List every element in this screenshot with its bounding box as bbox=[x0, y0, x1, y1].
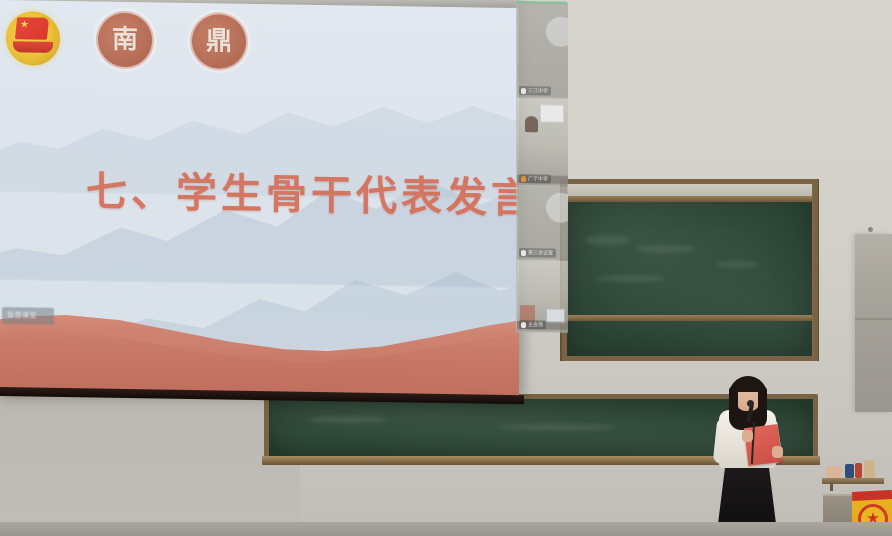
microphone-icon bbox=[521, 322, 526, 328]
chalk-smudge bbox=[716, 261, 760, 268]
participant-name-badge: 第三会议室 bbox=[519, 248, 556, 258]
chalk-smudge bbox=[636, 245, 696, 253]
right-hand bbox=[772, 446, 783, 458]
hair-strand-left bbox=[729, 386, 738, 422]
wall-hook bbox=[868, 227, 873, 232]
chalk-smudge bbox=[308, 416, 388, 423]
star-icon: ★ bbox=[20, 20, 29, 29]
chalkboard-right-post-right bbox=[812, 179, 819, 361]
microphone-icon bbox=[747, 400, 754, 407]
participant-label: 第三会议室 bbox=[528, 249, 553, 256]
slide-logo-row: ★ 南 鼎 bbox=[6, 9, 248, 71]
participant-tile-1[interactable]: 三江中学 bbox=[517, 2, 568, 99]
participant-name-badge: 主会场 bbox=[519, 320, 546, 329]
participant-name-badge: 广宁中学 bbox=[519, 174, 551, 184]
participant-tile-3[interactable]: 第三会议室 bbox=[517, 186, 568, 261]
chalk-smudge bbox=[584, 235, 630, 245]
chalk-smudge bbox=[498, 424, 618, 430]
shelf-object-jar bbox=[864, 460, 875, 478]
person-in-feed bbox=[525, 116, 538, 132]
chalkboard-right-rail-mid bbox=[562, 315, 818, 321]
school-seal-left-icon: 南 bbox=[96, 11, 154, 70]
participant-label: 广宁中学 bbox=[528, 175, 548, 182]
emblem-banner bbox=[13, 41, 53, 53]
student-representative bbox=[700, 374, 796, 536]
participant-label: 主会场 bbox=[528, 321, 543, 328]
seal-glyph: 南 bbox=[112, 27, 138, 53]
shelf-object-box bbox=[845, 464, 854, 478]
chalkboard-glow bbox=[566, 183, 814, 357]
hanging-cloth bbox=[855, 234, 892, 412]
wall-shadow bbox=[0, 380, 300, 536]
hair-strand-right bbox=[758, 386, 767, 418]
microphone-muted-icon bbox=[521, 176, 526, 182]
microphone-icon bbox=[521, 250, 526, 256]
participant-tile-2[interactable]: 广宁中学 bbox=[517, 98, 568, 187]
shelf-object-bottle bbox=[855, 463, 862, 478]
projector-screen: ★ 南 鼎 七、学生骨干代表发言 智慧课堂 bbox=[0, 0, 519, 397]
wall-shelf-bracket bbox=[830, 484, 833, 491]
floor bbox=[0, 522, 892, 536]
participant-tile-4[interactable]: 主会场 bbox=[517, 260, 568, 333]
shelf-object-cloth bbox=[826, 466, 842, 478]
participant-name-badge: 三江中学 bbox=[519, 86, 551, 96]
video-conference-panel[interactable]: 三江中学 广宁中学 第三会议室 bbox=[516, 2, 568, 333]
chalkboard-right-rail-top bbox=[562, 196, 818, 202]
communist-youth-league-emblem-icon: ★ bbox=[6, 11, 60, 66]
slide-title: 七、学生骨干代表发言 bbox=[86, 169, 506, 221]
chalk-smudge bbox=[596, 275, 666, 282]
left-hand bbox=[742, 430, 753, 442]
hanging-cloth-fold bbox=[855, 318, 892, 320]
whiteboard-in-feed bbox=[540, 104, 564, 122]
microphone-icon bbox=[521, 88, 526, 94]
slide-corner-label: 智慧课堂 bbox=[2, 307, 54, 325]
tile-video-feed bbox=[517, 98, 568, 186]
classroom-scene: ★ 南 鼎 七、学生骨干代表发言 智慧课堂 三江中学 bbox=[0, 0, 892, 536]
seal-glyph: 鼎 bbox=[206, 28, 232, 54]
school-seal-right-icon: 鼎 bbox=[190, 12, 248, 71]
participant-label: 三江中学 bbox=[528, 87, 548, 94]
chalkboard-right bbox=[566, 183, 814, 357]
